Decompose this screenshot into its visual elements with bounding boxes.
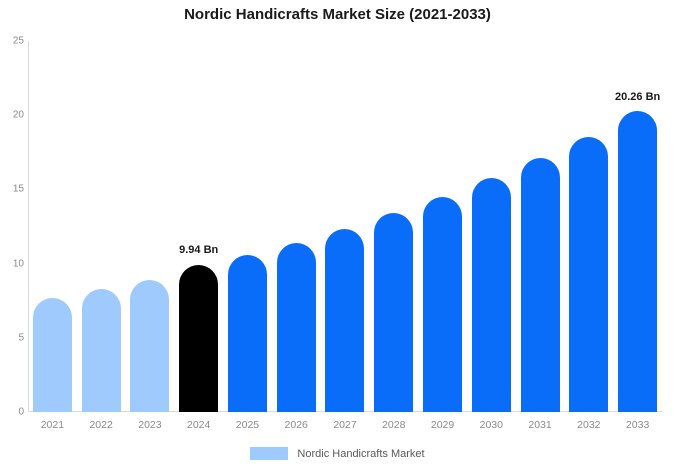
x-tick-label: 2029 [431,419,454,431]
y-axis-tick-labels: 0510152025 [0,0,24,469]
chart-legend: Nordic Handicrafts Market [0,447,675,460]
x-tick-label: 2025 [236,419,259,431]
bar[interactable] [33,298,72,412]
x-tick-label: 2024 [187,419,210,431]
x-tick-label: 2032 [577,419,600,431]
x-tick-label: 2022 [89,419,112,431]
legend-label: Nordic Handicrafts Market [297,448,424,460]
chart-title: Nordic Handicrafts Market Size (2021-203… [0,6,675,23]
chart-container: Nordic Handicrafts Market Size (2021-203… [0,0,675,469]
bar[interactable] [374,213,413,412]
bars-layer: 9.94 Bn20.26 Bn [28,41,662,412]
x-axis-tick-labels: 2021202220232024202520262027202820292030… [28,419,662,437]
x-tick-label: 2033 [626,419,649,431]
bar[interactable] [472,178,511,412]
y-tick-label: 25 [2,36,24,47]
bar[interactable] [569,137,608,412]
x-tick-label: 2030 [480,419,503,431]
y-tick-label: 5 [2,332,24,343]
bar[interactable] [228,255,267,412]
bar[interactable] [325,229,364,412]
bar[interactable] [130,280,169,412]
y-tick-label: 20 [2,110,24,121]
bar[interactable] [423,197,462,412]
bar[interactable] [521,158,560,412]
bar[interactable] [618,111,657,412]
x-tick-label: 2026 [285,419,308,431]
legend-item[interactable]: Nordic Handicrafts Market [250,447,424,460]
y-tick-label: 15 [2,184,24,195]
x-tick-label: 2028 [382,419,405,431]
bar[interactable] [82,289,121,412]
x-tick-label: 2031 [528,419,551,431]
y-tick-label: 0 [2,407,24,418]
x-tick-label: 2027 [333,419,356,431]
bar[interactable] [179,265,218,413]
bar[interactable] [277,243,316,412]
bar-value-label: 20.26 Bn [615,91,660,103]
x-tick-label: 2021 [41,419,64,431]
x-tick-label: 2023 [138,419,161,431]
y-tick-label: 10 [2,258,24,269]
legend-swatch [250,447,288,460]
bar-value-label: 9.94 Bn [179,244,218,256]
